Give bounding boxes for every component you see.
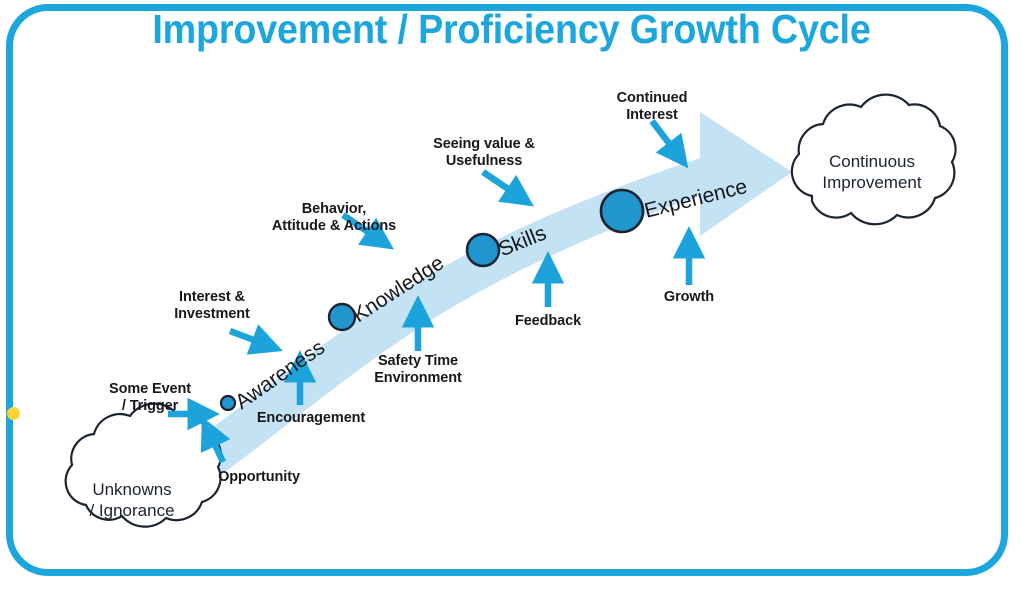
annotation-some-event-trigger: Some Event / Trigger — [90, 381, 210, 415]
arrow-continued-interest — [652, 121, 678, 155]
cloud-label-continuous-improvement: Continuous Improvement — [797, 151, 947, 193]
annotation-growth: Growth — [633, 289, 745, 306]
annotation-behavior-attitude: Behavior, Attitude & Actions — [258, 201, 410, 235]
diagram-canvas: Improvement / Proficiency Growth Cycle — [0, 0, 1023, 592]
annotation-safety-time-environment: Safety Time Environment — [358, 353, 478, 387]
annotation-continued-interest: Continued Interest — [592, 90, 712, 124]
annotation-interest-investment: Interest & Investment — [152, 289, 272, 323]
arrow-interest-investment — [230, 331, 267, 345]
annotation-opportunity: Opportunity — [199, 469, 319, 486]
node-experience — [601, 190, 643, 232]
cloud-label-unknowns: Unknowns / Ignorance — [62, 479, 202, 521]
annotation-feedback: Feedback — [492, 313, 604, 330]
arrow-seeing-value — [483, 172, 520, 197]
annotation-encouragement: Encouragement — [243, 410, 379, 427]
node-skills — [467, 234, 499, 266]
annotation-seeing-value: Seeing value & Usefulness — [424, 136, 544, 170]
